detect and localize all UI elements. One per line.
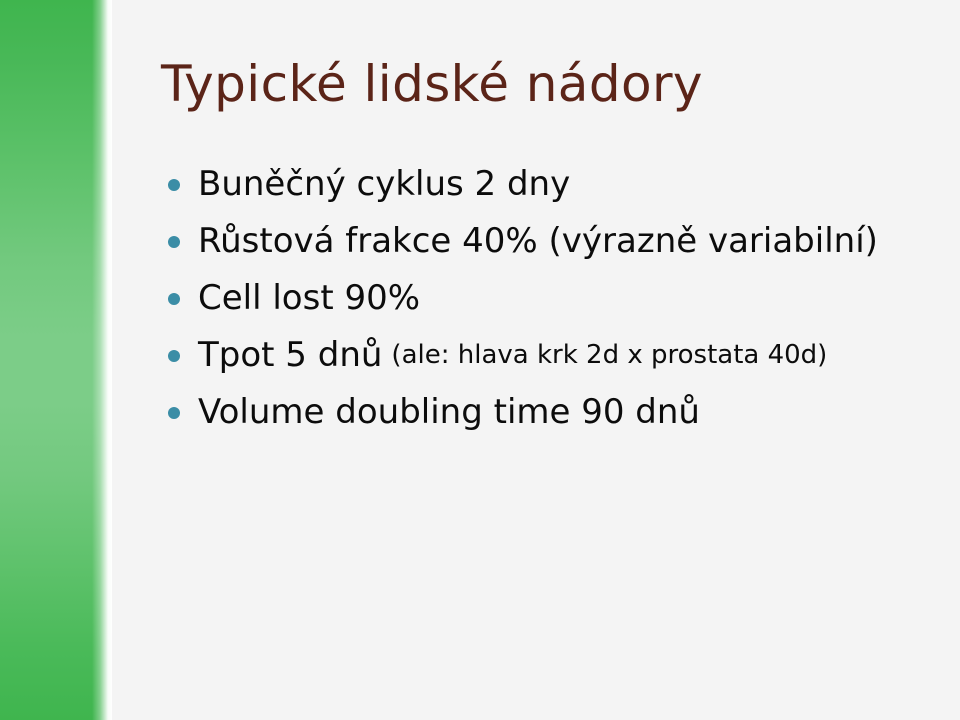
bullet-text: Volume doubling time 90 dnů xyxy=(198,395,700,429)
bullet-dot-icon xyxy=(168,293,180,305)
bullet-item-5: Volume doubling time 90 dnů xyxy=(166,388,946,435)
slide-content: Typické lidské nádory Buněčný cyklus 2 d… xyxy=(0,0,960,720)
bullet-item-3: Cell lost 90% xyxy=(166,274,946,321)
bullet-dot-icon xyxy=(168,179,180,191)
bullet-text: Růstová frakce 40% (výrazně variabilní) xyxy=(198,224,878,258)
bullet-dot-icon xyxy=(168,350,180,362)
bullet-dot-icon xyxy=(168,407,180,419)
bullet-text: Cell lost 90% xyxy=(198,281,420,315)
slide-title: Typické lidské nádory xyxy=(161,56,703,113)
bullet-item-2: Růstová frakce 40% (výrazně variabilní) xyxy=(166,217,946,264)
bullet-list: Buněčný cyklus 2 dny Růstová frakce 40% … xyxy=(166,160,946,445)
bullet-text: Buněčný cyklus 2 dny xyxy=(198,167,570,201)
bullet-item-1: Buněčný cyklus 2 dny xyxy=(166,160,946,207)
bullet-item-4: Tpot 5 dnů (ale: hlava krk 2d x prostata… xyxy=(166,331,946,378)
bullet-text: Tpot 5 dnů xyxy=(198,338,382,372)
bullet-dot-icon xyxy=(168,236,180,248)
bullet-note: (ale: hlava krk 2d x prostata 40d) xyxy=(391,342,827,368)
presentation-slide: Typické lidské nádory Buněčný cyklus 2 d… xyxy=(0,0,960,720)
